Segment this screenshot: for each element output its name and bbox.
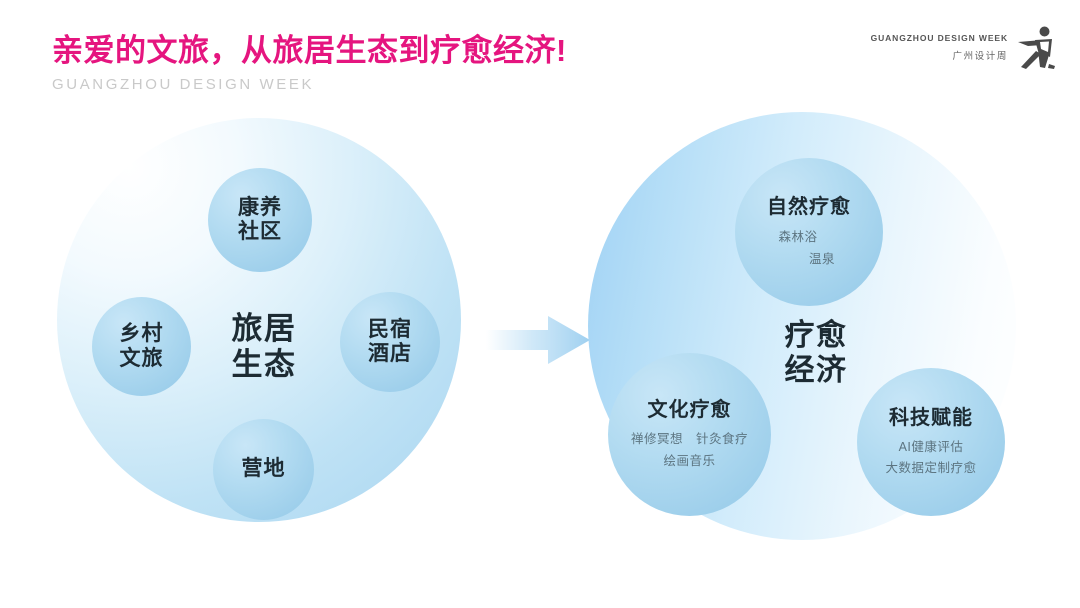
node-yingdi[interactable]: 营地 <box>213 419 314 520</box>
node-label-line1: 营地 <box>242 457 286 480</box>
node-title: 文化疗愈 <box>648 399 732 422</box>
page-subtitle: GUANGZHOU DESIGN WEEK <box>52 76 314 93</box>
brand-logo: GUANGZHOU DESIGN WEEK 广州设计周 <box>871 20 1058 74</box>
right-center-line1: 疗愈 <box>785 319 848 352</box>
logo-chinese-text: 广州设计周 <box>952 48 1008 62</box>
node-sub-b: 大数据定制疗愈 <box>885 459 976 477</box>
node-sub-list: 森林浴 温泉 <box>735 228 883 267</box>
left-cluster-center-label: 旅居 生态 <box>198 288 330 406</box>
node-keji-funeng[interactable]: 科技赋能 AI健康评估 大数据定制疗愈 <box>857 368 1005 516</box>
node-sub-list: AI健康评估 大数据定制疗愈 <box>885 438 976 477</box>
node-kangyang-shequ[interactable]: 康养 社区 <box>208 168 312 272</box>
right-center-line2: 经济 <box>785 354 848 387</box>
logo-text-block: GUANGZHOU DESIGN WEEK 广州设计周 <box>871 33 1008 62</box>
left-center-line1: 旅居 <box>232 311 297 346</box>
node-sub-a: 森林浴 <box>713 228 883 246</box>
node-sub-list: 禅修冥想 针灸食疗 绘画音乐 <box>631 430 748 469</box>
node-sub-a: 禅修冥想 针灸食疗 <box>631 430 748 448</box>
node-label-line1: 乡村 <box>120 322 164 345</box>
right-arrow-icon <box>486 312 590 368</box>
right-cluster-center-label: 疗愈 经济 <box>757 298 875 410</box>
node-title: 科技赋能 <box>889 407 973 430</box>
slide-header: 亲爱的文旅，从旅居生态到疗愈经济! GUANGZHOU DESIGN WEEK … <box>0 0 1080 110</box>
node-ziran-liaoyu[interactable]: 自然疗愈 森林浴 温泉 <box>735 158 883 306</box>
node-xiangcun-wenlv[interactable]: 乡村 文旅 <box>92 297 191 396</box>
node-wenhua-liaoyu[interactable]: 文化疗愈 禅修冥想 针灸食疗 绘画音乐 <box>608 353 771 516</box>
running-figure-icon <box>1016 24 1058 70</box>
node-sub-b: 温泉 <box>761 250 883 268</box>
node-label-line1: 民宿 <box>368 318 412 341</box>
left-center-line2: 生态 <box>232 347 297 382</box>
node-label-line2: 社区 <box>238 220 282 243</box>
node-label-line2: 文旅 <box>120 347 164 370</box>
node-title: 自然疗愈 <box>767 196 851 219</box>
node-label-line1: 康养 <box>238 196 282 219</box>
page-title: 亲爱的文旅，从旅居生态到疗愈经济! <box>52 25 567 70</box>
node-minsu-jiudian[interactable]: 民宿 酒店 <box>340 292 440 392</box>
logo-english-text: GUANGZHOU DESIGN WEEK <box>871 33 1008 43</box>
node-sub-b: 绘画音乐 <box>631 452 748 470</box>
node-sub-a: AI健康评估 <box>885 438 976 456</box>
node-label-line2: 酒店 <box>368 342 412 365</box>
slide-canvas: 亲爱的文旅，从旅居生态到疗愈经济! GUANGZHOU DESIGN WEEK … <box>0 0 1080 608</box>
